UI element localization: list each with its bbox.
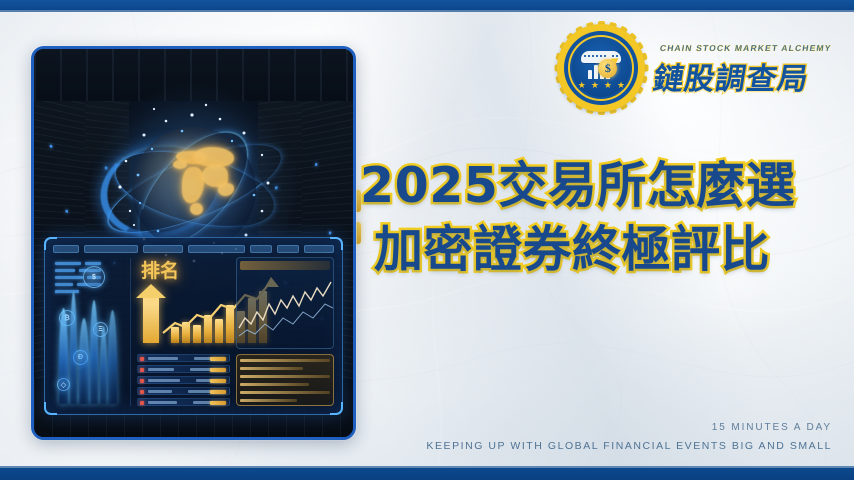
table-row [137,398,230,406]
headline-line-2: 加密證券終極評比 [360,222,838,278]
page-title: 2025交易所怎麼選 加密證券終極評比 [360,158,838,278]
trading-dashboard-hud: $ ₿ Ξ Đ ◇ 排名 [44,237,343,415]
brand-emblem-icon[interactable]: $ ★ ★ ★ ★ [557,24,645,112]
table-row [137,376,230,384]
hero-image-card: $ ₿ Ξ Đ ◇ 排名 [31,46,356,440]
hero-photo: $ ₿ Ξ Đ ◇ 排名 [34,49,353,437]
hud-price-chart-panel [236,257,334,349]
hud-toolbar [53,243,334,254]
brand-wordmark-chinese: 鏈股調查局 [651,54,836,98]
emblem-inner-field: $ ★ ★ ★ ★ [572,39,630,97]
hud-ranking-table [137,354,230,406]
table-row [137,387,230,395]
hud-dataflow-panel: $ ₿ Ξ Đ ◇ [53,258,131,406]
tagline: 15 MINUTES A DAY KEEPING UP WITH GLOBAL … [426,422,832,452]
brand-wordmark-english: CHAIN STOCK MARKET ALCHEMY [654,43,833,53]
hud-ranking-chart: 排名 [137,257,230,349]
hud-price-sparkline [237,274,334,344]
tagline-line-1: 15 MINUTES A DAY [426,422,832,433]
poster-canvas: $ ₿ Ξ Đ ◇ 排名 [0,0,854,480]
brand-lockup[interactable]: $ ★ ★ ★ ★ CHAIN STOCK MARKET ALCHEMY 鏈股調… [557,24,832,112]
table-row [137,365,230,373]
top-brand-bar [0,0,854,12]
table-row [137,354,230,362]
headline-line-1: 2025交易所怎麼選 [360,158,838,214]
brand-wordmark[interactable]: CHAIN STOCK MARKET ALCHEMY 鏈股調查局 [654,39,832,98]
emblem-stars: ★ ★ ★ ★ [572,81,630,90]
tagline-line-2: KEEPING UP WITH GLOBAL FINANCIAL EVENTS … [426,440,832,452]
emblem-dollar-coin-icon: $ [598,59,617,78]
bottom-brand-bar [0,466,854,480]
hud-highlight-panel [236,354,334,406]
